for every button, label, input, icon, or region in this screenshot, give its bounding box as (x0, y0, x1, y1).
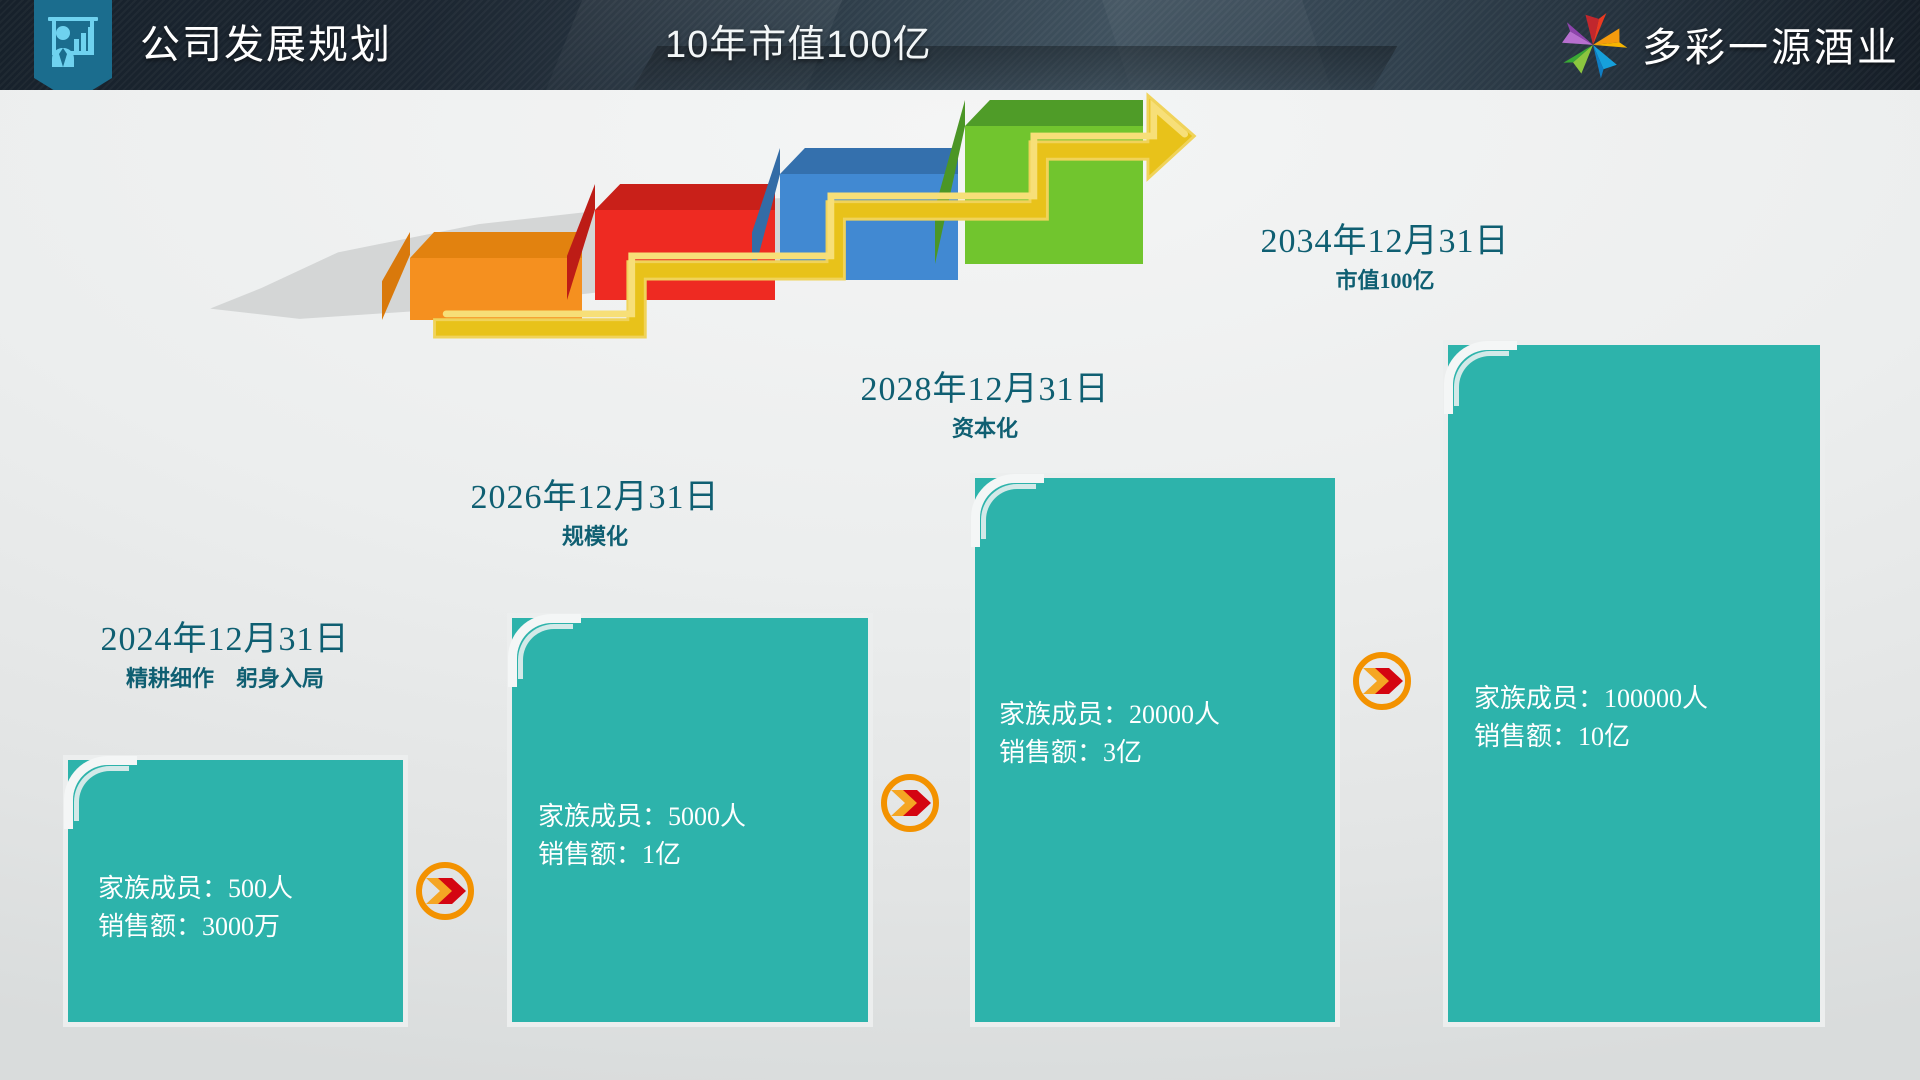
multicolor-star-icon (1550, 8, 1636, 80)
milestone-subtitle: 资本化 (815, 415, 1155, 444)
milestone-subtitle: 市值100亿 (1200, 267, 1570, 296)
card-metric-line: 家族成员：20000人 (999, 696, 1220, 734)
card-metric-line: 家族成员：5000人 (538, 798, 746, 836)
card-metrics: 家族成员：100000人 销售额：10亿 (1474, 680, 1708, 755)
slide-root: 公司发展规划 10年市值100亿 (0, 0, 1920, 1080)
bar-face (595, 210, 775, 300)
bar-top (595, 184, 775, 210)
brand-logo: 多彩一源酒业 (1550, 8, 1912, 80)
bar-top (410, 232, 582, 258)
connector-arrow-3[interactable] (1351, 650, 1413, 712)
milestone-subtitle: 规模化 (430, 523, 760, 552)
milestone-caption-4: 2034年12月31日 市值100亿 (1200, 222, 1570, 296)
bar-2028-blue (780, 174, 958, 280)
slide-header: 公司发展规划 10年市值100亿 (0, 0, 1920, 90)
milestone-card-1[interactable]: 家族成员：500人 销售额：3000万 (68, 760, 403, 1022)
milestone-date: 2024年12月31日 (60, 620, 390, 659)
bar-face (965, 126, 1143, 264)
milestone-caption-1: 2024年12月31日 精耕细作 躬身入局 (60, 620, 390, 694)
card-metric-line: 家族成员：100000人 (1474, 680, 1708, 718)
card-metrics: 家族成员：500人 销售额：3000万 (98, 870, 293, 945)
connector-arrow-1[interactable] (414, 860, 476, 922)
milestone-card-2[interactable]: 家族成员：5000人 销售额：1亿 (512, 618, 868, 1022)
card-metric-line: 销售额：10亿 (1474, 718, 1708, 756)
card-metric-line: 销售额：3000万 (98, 908, 293, 946)
card-metrics: 家族成员：20000人 销售额：3亿 (999, 696, 1220, 771)
chevron-right-icon (414, 860, 476, 922)
card-metric-line: 家族成员：500人 (98, 870, 293, 908)
milestone-date: 2026年12月31日 (430, 478, 760, 517)
bar-2024-orange (410, 258, 582, 320)
brand-name: 多彩一源酒业 (1636, 15, 1912, 73)
card-metrics: 家族成员：5000人 销售额：1亿 (538, 798, 746, 873)
header-subject: 10年市值100亿 (665, 14, 932, 76)
bar-face (780, 174, 958, 280)
presentation-chart-person-icon (46, 11, 100, 67)
milestone-caption-2: 2026年12月31日 规模化 (430, 478, 760, 552)
bar-2026-red (595, 210, 775, 300)
chevron-right-icon (1351, 650, 1413, 712)
connector-arrow-2[interactable] (879, 772, 941, 834)
card-metric-line: 销售额：1亿 (538, 836, 746, 874)
milestone-caption-3: 2028年12月31日 资本化 (815, 370, 1155, 444)
milestone-subtitle: 精耕细作 躬身入局 (60, 665, 390, 694)
page-title: 公司发展规划 (140, 14, 392, 76)
bar-top (965, 100, 1143, 126)
milestone-date: 2028年12月31日 (815, 370, 1155, 409)
milestone-date: 2034年12月31日 (1200, 222, 1570, 261)
card-metric-line: 销售额：3亿 (999, 734, 1220, 772)
bar-top (780, 148, 958, 174)
bar-2034-green (965, 126, 1143, 264)
milestone-card-3[interactable]: 家族成员：20000人 销售额：3亿 (975, 478, 1335, 1022)
milestone-card-4[interactable]: 家族成员：100000人 销售额：10亿 (1448, 345, 1820, 1022)
bar-face (410, 258, 582, 320)
header-icon-badge (34, 0, 112, 78)
growth-bar-chart-3d (210, 88, 1270, 378)
chevron-right-icon (879, 772, 941, 834)
